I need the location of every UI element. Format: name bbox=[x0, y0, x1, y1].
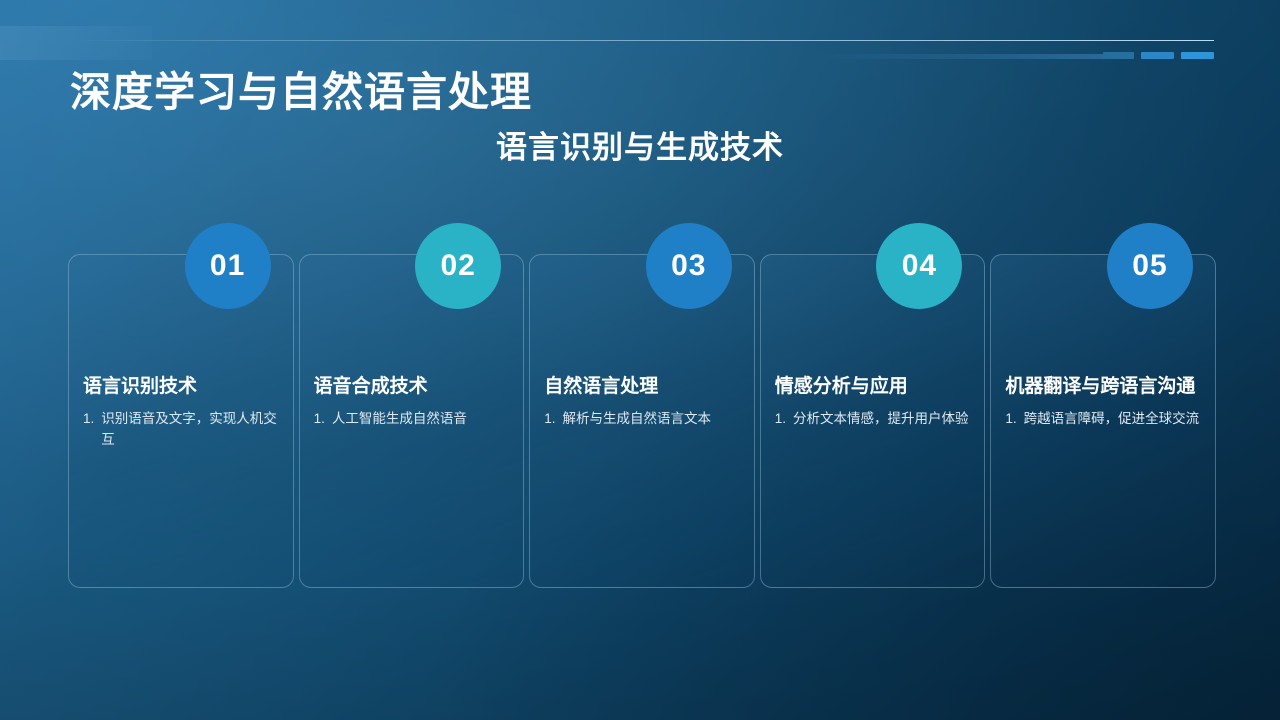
dash-trail-decor bbox=[810, 54, 1110, 59]
card-number-badge-02: 02 bbox=[415, 223, 501, 309]
card-01[interactable]: 01 语言识别技术 1. 识别语音及文字，实现人机交互 bbox=[68, 254, 294, 588]
list-item: 1. 识别语音及文字，实现人机交互 bbox=[83, 409, 281, 450]
list-item: 1. 跨越语言障碍，促进全球交流 bbox=[1005, 409, 1203, 429]
card-row: 01 语言识别技术 1. 识别语音及文字，实现人机交互 02 语音合成技术 1. bbox=[68, 254, 1216, 588]
list-item: 1. 解析与生成自然语言文本 bbox=[544, 409, 742, 429]
card-title-05: 机器翻译与跨语言沟通 bbox=[1005, 375, 1203, 399]
list-item-text: 分析文本情感，提升用户体验 bbox=[793, 409, 972, 429]
card-body-01: 语言识别技术 1. 识别语音及文字，实现人机交互 bbox=[83, 375, 281, 577]
list-item-text: 识别语音及文字，实现人机交互 bbox=[101, 409, 280, 450]
card-02[interactable]: 02 语音合成技术 1. 人工智能生成自然语音 bbox=[299, 254, 525, 588]
header-dash-1 bbox=[1103, 52, 1134, 59]
card-body-02: 语音合成技术 1. 人工智能生成自然语音 bbox=[314, 375, 512, 577]
card-number-badge-04: 04 bbox=[876, 223, 962, 309]
top-left-accent-block bbox=[0, 26, 152, 60]
card-number-badge-05: 05 bbox=[1107, 223, 1193, 309]
card-title-04: 情感分析与应用 bbox=[775, 375, 973, 399]
card-items-01: 1. 识别语音及文字，实现人机交互 bbox=[83, 409, 281, 454]
list-item-number: 1. bbox=[1005, 409, 1016, 429]
card-05[interactable]: 05 机器翻译与跨语言沟通 1. 跨越语言障碍，促进全球交流 bbox=[990, 254, 1216, 588]
header-divider-line bbox=[72, 40, 1214, 41]
card-items-04: 1. 分析文本情感，提升用户体验 bbox=[775, 409, 973, 433]
card-items-05: 1. 跨越语言障碍，促进全球交流 bbox=[1005, 409, 1203, 433]
card-body-03: 自然语言处理 1. 解析与生成自然语言文本 bbox=[544, 375, 742, 577]
list-item-text: 解析与生成自然语言文本 bbox=[562, 409, 741, 429]
list-item: 1. 分析文本情感，提升用户体验 bbox=[775, 409, 973, 429]
list-item-number: 1. bbox=[775, 409, 786, 429]
list-item-number: 1. bbox=[83, 409, 94, 450]
list-item-number: 1. bbox=[544, 409, 555, 429]
list-item: 1. 人工智能生成自然语音 bbox=[314, 409, 512, 429]
card-body-05: 机器翻译与跨语言沟通 1. 跨越语言障碍，促进全球交流 bbox=[1005, 375, 1203, 577]
list-item-text: 人工智能生成自然语音 bbox=[332, 409, 511, 429]
card-number-badge-01: 01 bbox=[185, 223, 271, 309]
card-items-02: 1. 人工智能生成自然语音 bbox=[314, 409, 512, 433]
list-item-text: 跨越语言障碍，促进全球交流 bbox=[1024, 409, 1203, 429]
slide-subtitle: 语言识别与生成技术 bbox=[0, 122, 1280, 167]
list-item-number: 1. bbox=[314, 409, 325, 429]
slide-title: 深度学习与自然语言处理 bbox=[70, 58, 532, 118]
header-dash-2 bbox=[1141, 52, 1174, 59]
card-number-badge-03: 03 bbox=[646, 223, 732, 309]
card-03[interactable]: 03 自然语言处理 1. 解析与生成自然语言文本 bbox=[529, 254, 755, 588]
card-title-02: 语音合成技术 bbox=[314, 375, 512, 399]
card-title-03: 自然语言处理 bbox=[544, 375, 742, 399]
card-title-01: 语言识别技术 bbox=[83, 375, 281, 399]
header-dash-group bbox=[1103, 52, 1214, 59]
card-body-04: 情感分析与应用 1. 分析文本情感，提升用户体验 bbox=[775, 375, 973, 577]
card-04[interactable]: 04 情感分析与应用 1. 分析文本情感，提升用户体验 bbox=[760, 254, 986, 588]
card-items-03: 1. 解析与生成自然语言文本 bbox=[544, 409, 742, 433]
slide-canvas: 深度学习与自然语言处理 语言识别与生成技术 01 语言识别技术 1. 识别语音及… bbox=[0, 0, 1280, 720]
header-dash-3 bbox=[1181, 52, 1214, 59]
